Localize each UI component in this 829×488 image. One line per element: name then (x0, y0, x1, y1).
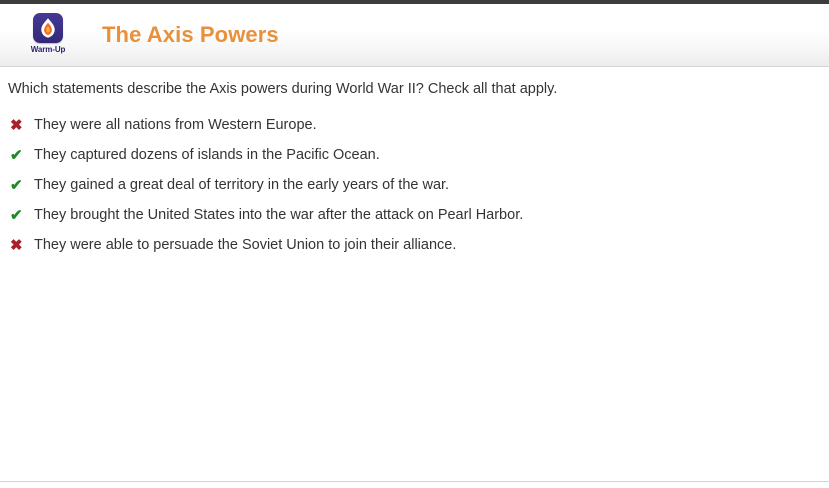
cross-icon: ✖ (8, 118, 34, 133)
answer-option-label: They gained a great deal of territory in… (34, 176, 449, 194)
question-content: Which statements describe the Axis power… (0, 68, 829, 481)
check-icon: ✔ (8, 208, 34, 223)
answer-option-3[interactable]: ✔ They gained a great deal of territory … (8, 170, 808, 200)
answer-option-4[interactable]: ✔ They brought the United States into th… (8, 200, 808, 230)
answer-option-5[interactable]: ✖ They were able to persuade the Soviet … (8, 230, 808, 260)
page-header: Warm-Up The Axis Powers (0, 4, 829, 67)
answer-option-2[interactable]: ✔ They captured dozens of islands in the… (8, 140, 808, 170)
answer-list: ✖ They were all nations from Western Eur… (8, 110, 808, 260)
page-title: The Axis Powers (102, 22, 279, 48)
answer-option-1[interactable]: ✖ They were all nations from Western Eur… (8, 110, 808, 140)
flame-icon (33, 13, 63, 43)
answer-option-label: They captured dozens of islands in the P… (34, 146, 380, 164)
warm-up-badge: Warm-Up (14, 13, 82, 55)
footer-area (0, 482, 829, 488)
answer-option-label: They were able to persuade the Soviet Un… (34, 236, 456, 254)
cross-icon: ✖ (8, 238, 34, 253)
answer-option-label: They brought the United States into the … (34, 206, 523, 224)
answer-option-label: They were all nations from Western Europ… (34, 116, 317, 134)
warm-up-label: Warm-Up (31, 45, 66, 55)
check-icon: ✔ (8, 178, 34, 193)
question-prompt: Which statements describe the Axis power… (8, 80, 557, 98)
check-icon: ✔ (8, 148, 34, 163)
